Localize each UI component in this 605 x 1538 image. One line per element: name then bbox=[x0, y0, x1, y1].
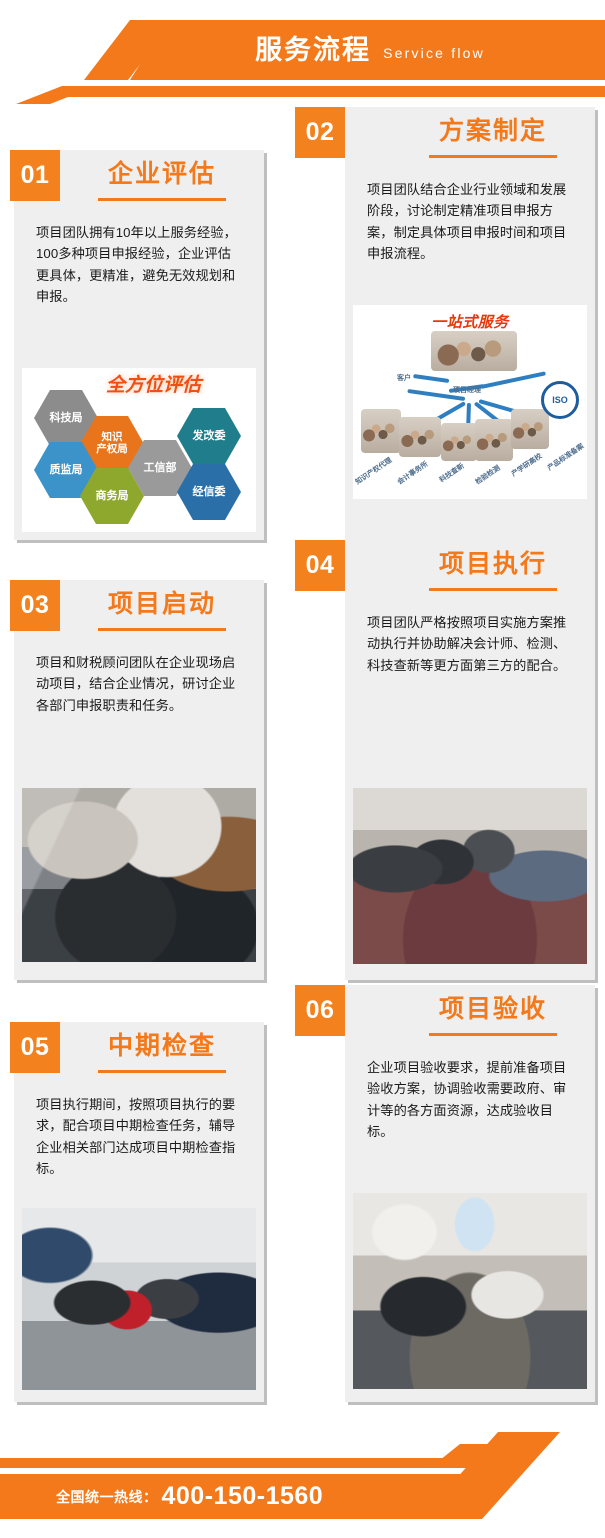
title-underline bbox=[429, 155, 557, 158]
step-number-badge: 01 bbox=[10, 150, 60, 201]
header-banner: 服务流程 Service flow bbox=[0, 0, 605, 104]
hex-node-label: 工信部 bbox=[144, 462, 177, 474]
showroom-visit-photo bbox=[22, 1208, 256, 1390]
acceptance-review-photo bbox=[353, 1193, 587, 1389]
card-body-text: 项目和财税顾问团队在企业现场启动项目，结合企业情况，研讨企业各部门申报职责和任务… bbox=[36, 652, 244, 716]
branch-thumb-5 bbox=[511, 409, 549, 449]
service-center-label: 项目经理 bbox=[453, 385, 481, 395]
title-underline bbox=[98, 1070, 226, 1073]
card-body-text: 项目团队拥有10年以上服务经验，100多种项目申报经验，企业评估更具体，更精准，… bbox=[36, 222, 244, 308]
hotline-label: 全国统一热线： bbox=[56, 1487, 158, 1507]
photo-content bbox=[22, 1208, 256, 1390]
branch-label-6: 产品标准备案 bbox=[545, 441, 585, 473]
step-card-05: 05 中期检查 项目执行期间，按照项目执行的要求，配合项目中期检查任务，辅导企业… bbox=[14, 1022, 264, 1402]
step-number-badge: 05 bbox=[10, 1022, 60, 1073]
step-number-badge: 06 bbox=[295, 985, 345, 1036]
step-card-03: 03 项目启动 项目和财税顾问团队在企业现场启动项目，结合企业情况，研讨企业各部… bbox=[14, 580, 264, 980]
service-client-label: 客户 bbox=[397, 373, 411, 383]
card-title: 项目启动 bbox=[70, 592, 254, 617]
footer-hotline-group: 全国统一热线： 400-150-1560 bbox=[56, 1474, 323, 1519]
conference-room-photo bbox=[22, 788, 256, 962]
hex-diagram-heading: 全方位评估 bbox=[106, 376, 201, 395]
iso-badge-icon: ISO bbox=[541, 381, 579, 419]
card-title: 项目执行 bbox=[401, 552, 585, 577]
page-subtitle: Service flow bbox=[383, 40, 485, 60]
page-title: 服务流程 bbox=[255, 37, 371, 64]
card-body-text: 项目执行期间，按照项目执行的要求，配合项目中期检查任务，辅导企业相关部门达成项目… bbox=[36, 1094, 244, 1180]
photo-content bbox=[353, 1193, 587, 1389]
arrow-to-iso bbox=[481, 371, 546, 389]
card-title: 企业评估 bbox=[70, 162, 254, 187]
card-title: 项目验收 bbox=[401, 997, 585, 1022]
branch-thumb-4 bbox=[475, 419, 513, 461]
branch-label-1: 知识产权代理 bbox=[353, 455, 393, 487]
hex-node-label: 商务局 bbox=[96, 490, 129, 502]
step-card-06: 06 项目验收 企业项目验收要求，提前准备项目验收方案，协调验收需要政府、审计等… bbox=[345, 985, 595, 1402]
hex-node-label: 科技局 bbox=[50, 412, 83, 424]
footer-stripe bbox=[0, 1458, 475, 1468]
working-desks-photo bbox=[353, 788, 587, 964]
photo-content bbox=[353, 788, 587, 964]
hexagon-assessment-diagram: 全方位评估 科技局 知识 产权局 发改委 质监局 工信部 商务局 经信委 bbox=[22, 368, 256, 532]
service-team-photo bbox=[431, 331, 517, 371]
footer-banner: 全国统一热线： 400-150-1560 bbox=[0, 1420, 605, 1538]
card-title: 方案制定 bbox=[401, 119, 585, 144]
title-underline bbox=[429, 1033, 557, 1036]
header-stripe bbox=[60, 86, 605, 97]
title-underline bbox=[98, 198, 226, 201]
branch-thumb-3 bbox=[441, 423, 477, 461]
service-diagram-heading: 一站式服务 bbox=[353, 311, 587, 332]
step-card-02: 02 方案制定 项目团队结合企业行业领域和发展阶段，讨论制定精准项目申报方案，制… bbox=[345, 107, 595, 540]
one-stop-service-diagram: 一站式服务 客户 项目经理 ISO 知识产权代理 会计事务所 科技查新 检验检测… bbox=[353, 305, 587, 499]
branch-label-2: 会计事务所 bbox=[395, 459, 430, 487]
card-body-text: 项目团队严格按照项目实施方案推动执行并协助解决会计师、检测、科技查新等更方面第三… bbox=[367, 612, 575, 676]
hex-node-fagaiwei: 发改委 bbox=[177, 408, 241, 464]
hex-node-label: 发改委 bbox=[193, 430, 226, 442]
card-title: 中期检查 bbox=[70, 1034, 254, 1059]
card-body-text: 企业项目验收要求，提前准备项目验收方案，协调验收需要政府、审计等的各方面资源，达… bbox=[367, 1057, 575, 1143]
header-text-group: 服务流程 Service flow bbox=[150, 20, 590, 80]
branch-label-4: 检验检测 bbox=[473, 463, 502, 487]
step-number-badge: 02 bbox=[295, 107, 345, 158]
title-underline bbox=[98, 628, 226, 631]
branch-thumb-1 bbox=[361, 409, 401, 453]
branch-thumb-2 bbox=[399, 417, 441, 457]
branch-label-5: 产学研高校 bbox=[509, 451, 544, 479]
title-underline bbox=[429, 588, 557, 591]
branch-label-3: 科技查新 bbox=[437, 461, 466, 485]
step-number-badge: 04 bbox=[295, 540, 345, 591]
photo-content bbox=[22, 788, 256, 962]
hotline-phone[interactable]: 400-150-1560 bbox=[162, 1482, 324, 1511]
arrow-to-client bbox=[413, 374, 449, 383]
step-number-badge: 03 bbox=[10, 580, 60, 631]
hex-node-label: 质监局 bbox=[50, 464, 83, 476]
step-card-01: 01 企业评估 项目团队拥有10年以上服务经验，100多种项目申报经验，企业评估… bbox=[14, 150, 264, 540]
step-card-04: 04 项目执行 项目团队严格按照项目实施方案推动执行并协助解决会计师、检测、科技… bbox=[345, 540, 595, 980]
hex-node-label: 知识 产权局 bbox=[96, 432, 128, 456]
service-flow-infographic: 服务流程 Service flow 01 企业评估 项目团队拥有10年以上服务经… bbox=[0, 0, 605, 1538]
card-body-text: 项目团队结合企业行业领域和发展阶段，讨论制定精准项目申报方案，制定具体项目申报时… bbox=[367, 179, 575, 265]
hex-node-label: 经信委 bbox=[193, 486, 226, 498]
